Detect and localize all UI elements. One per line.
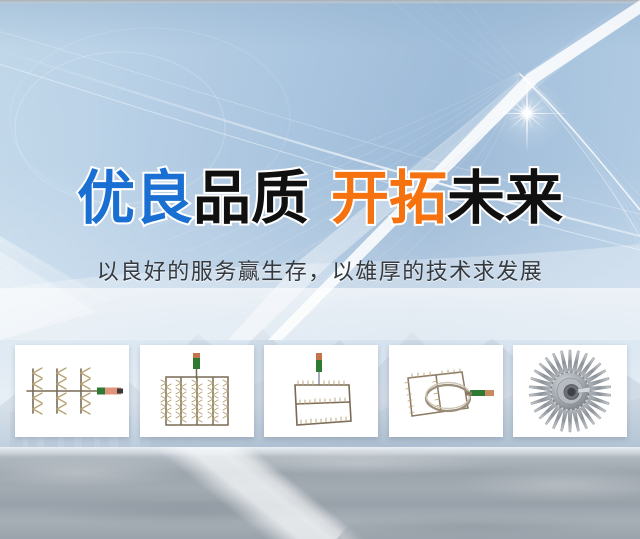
product-card-1[interactable]: [15, 345, 129, 437]
product-card-4[interactable]: [389, 345, 503, 437]
headline-segment-2: 品质: [193, 164, 309, 232]
headline-segment-1: 优良: [77, 164, 193, 232]
headline-segment-4: 未来: [447, 164, 563, 232]
plating-rack-sunburst-icon: [527, 348, 613, 434]
subtitle: 以良好的服务赢生存，以雄厚的技术求发展: [0, 258, 640, 288]
headline: 优良品质开拓未来: [0, 166, 640, 230]
plating-rack-panel-icon: [281, 351, 361, 431]
concrete-ground: [0, 447, 640, 539]
product-card-row: [15, 345, 627, 437]
product-card-2[interactable]: [140, 345, 254, 437]
plating-rack-ring-icon: [396, 358, 496, 424]
plating-rack-barrel-icon: [155, 351, 239, 431]
plating-rack-comb-icon: [19, 353, 125, 429]
product-card-5[interactable]: [513, 345, 627, 437]
product-card-3[interactable]: [264, 345, 378, 437]
promo-banner: 优良品质开拓未来 以良好的服务赢生存，以雄厚的技术求发展: [0, 0, 640, 539]
headline-segment-3: 开拓: [331, 164, 447, 232]
